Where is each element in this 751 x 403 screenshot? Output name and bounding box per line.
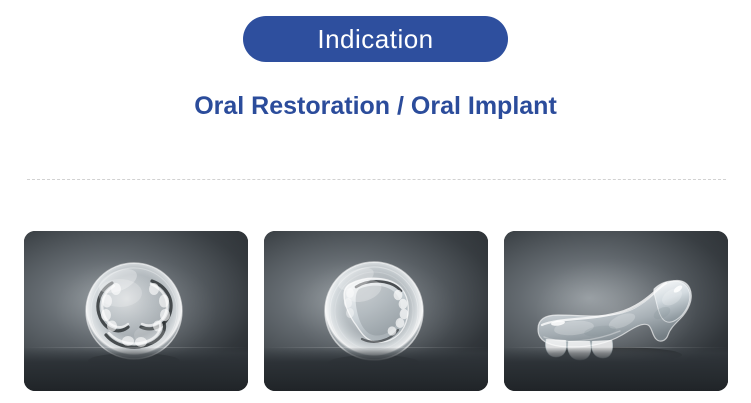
gallery-card-clear-dental-splint[interactable] [504, 231, 728, 391]
gallery-card-resin-disc-denture[interactable] [264, 231, 488, 391]
indication-badge-label: Indication [317, 26, 433, 52]
section-divider [27, 179, 726, 180]
indication-badge: Indication [243, 16, 508, 62]
page-subtitle: Oral Restoration / Oral Implant [194, 92, 557, 121]
card-surface [264, 347, 488, 391]
indication-page: Indication Oral Restoration / Oral Impla… [0, 0, 751, 403]
badge-container: Indication [0, 16, 751, 62]
subtitle-container: Oral Restoration / Oral Implant [0, 92, 751, 121]
indication-gallery [24, 231, 727, 391]
card-surface [24, 347, 248, 391]
gallery-card-resin-disc-arches[interactable] [24, 231, 248, 391]
card-surface [504, 347, 728, 391]
